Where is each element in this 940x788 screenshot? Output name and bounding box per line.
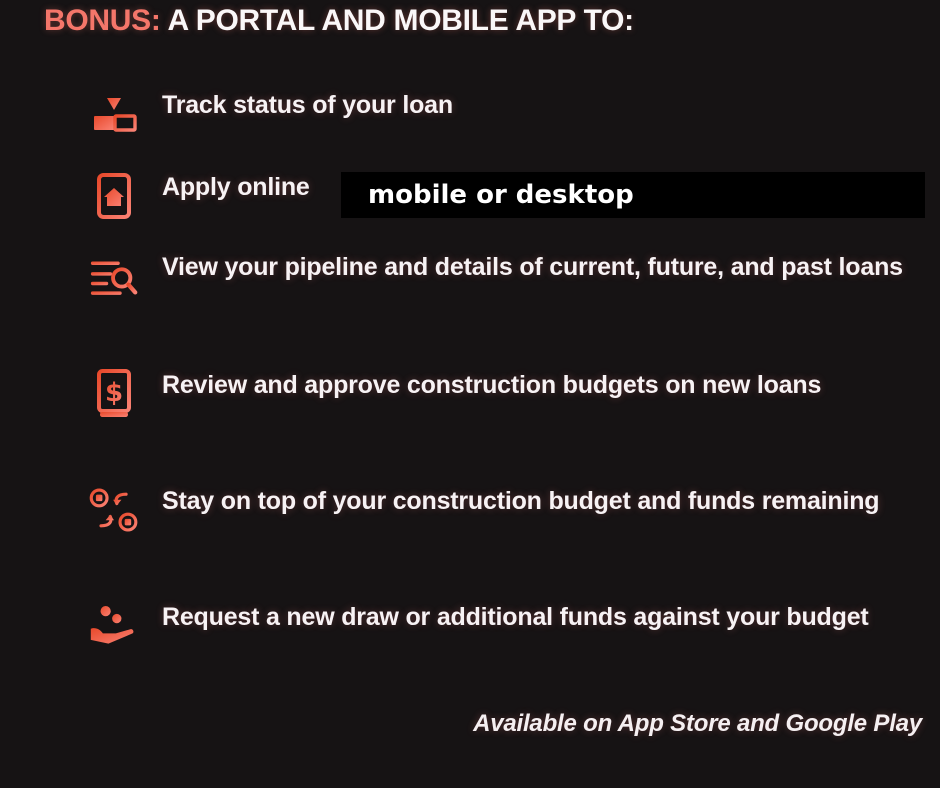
list-item: View your pipeline and details of curren… (0, 250, 940, 310)
list-item: Stay on top of your construction budget … (0, 484, 940, 544)
list-item-label: Stay on top of your construction budget … (162, 484, 879, 519)
list-item: Request a new draw or additional funds a… (0, 600, 940, 660)
list-item-label: Track status of your loan (162, 88, 453, 123)
list-item: $ Review and approve construction budget… (0, 368, 940, 428)
list-item-label: Apply online (162, 170, 310, 205)
availability-note: Available on App Store and Google Play (473, 710, 922, 738)
svg-text:$: $ (105, 378, 123, 408)
redaction-overlay-label: mobile or desktop (368, 180, 634, 210)
title-rest-label: A PORTAL AND MOBILE APP TO: (161, 4, 634, 37)
slide-root: BONUS: A PORTAL AND MOBILE APP TO: Track… (0, 0, 940, 788)
list-item-label: Review and approve construction budgets … (162, 368, 821, 403)
mobile-home-icon (88, 170, 140, 222)
progress-status-bar-icon (88, 88, 140, 140)
redaction-overlay-box: mobile or desktop (341, 172, 925, 218)
list-item-label: View your pipeline and details of curren… (162, 250, 903, 285)
title-bonus-label: BONUS: (44, 4, 161, 37)
list-item-label: Request a new draw or additional funds a… (162, 600, 869, 635)
list-search-icon (88, 250, 140, 302)
document-dollar-icon: $ (88, 368, 140, 420)
funds-transfer-icon (88, 484, 140, 536)
hand-coins-icon (88, 600, 140, 652)
list-item: Track status of your loan (0, 88, 940, 148)
page-title: BONUS: A PORTAL AND MOBILE APP TO: (44, 4, 634, 38)
